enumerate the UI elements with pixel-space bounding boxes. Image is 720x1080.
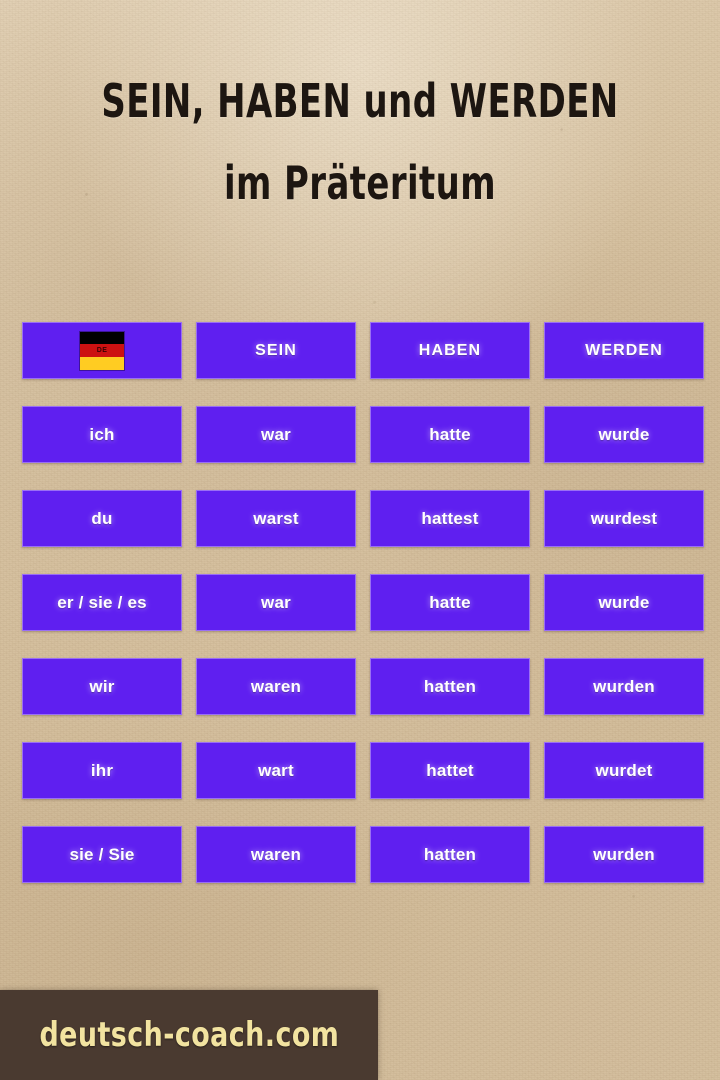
table-cell-werden: wurde <box>544 574 704 631</box>
verb-form: waren <box>251 845 301 865</box>
verb-form: hatte <box>429 593 471 613</box>
verb-form: wurdet <box>596 761 653 781</box>
table-row: ihr <box>22 742 182 799</box>
table-cell-werden: wurdet <box>544 742 704 799</box>
pronoun-label: ich <box>89 425 114 445</box>
table-cell-haben: hatte <box>370 574 530 631</box>
verb-form: wart <box>258 761 294 781</box>
verb-form: hatte <box>429 425 471 445</box>
verb-form: hatten <box>424 677 476 697</box>
title-line-2: im Präteritum <box>65 160 655 206</box>
footer-watermark-bar: deutsch-coach.com <box>0 990 378 1080</box>
table-cell-werden: wurde <box>544 406 704 463</box>
poster-page: SEIN, HABEN und WERDEN im Präteritum DE … <box>0 0 720 1080</box>
verb-form: warst <box>253 509 298 529</box>
table-cell-werden: wurdest <box>544 490 704 547</box>
table-row: er / sie / es <box>22 574 182 631</box>
flag-band-black <box>80 332 124 345</box>
table-cell-sein: waren <box>196 826 356 883</box>
table-header-sein-label: SEIN <box>255 342 297 360</box>
table-header-flag-cell: DE <box>22 322 182 379</box>
table-cell-werden: wurden <box>544 826 704 883</box>
verb-form: wurde <box>598 425 649 445</box>
table-cell-haben: hatten <box>370 658 530 715</box>
verb-form: wurdest <box>591 509 658 529</box>
table-header-werden-label: WERDEN <box>585 342 663 360</box>
table-cell-sein: waren <box>196 658 356 715</box>
table-cell-haben: hattest <box>370 490 530 547</box>
footer-watermark-label: deutsch-coach.com <box>39 1015 339 1055</box>
verb-form: hatten <box>424 845 476 865</box>
german-flag-icon: DE <box>80 332 124 370</box>
table-row: sie / Sie <box>22 826 182 883</box>
flag-de-label: DE <box>80 344 124 357</box>
pronoun-label: sie / Sie <box>69 845 134 865</box>
page-title: SEIN, HABEN und WERDEN im Präteritum <box>0 78 720 206</box>
table-header-haben-label: HABEN <box>419 342 481 360</box>
verb-form: war <box>261 425 291 445</box>
table-cell-werden: wurden <box>544 658 704 715</box>
verb-form: wurde <box>598 593 649 613</box>
pronoun-label: wir <box>89 677 114 697</box>
pronoun-label: du <box>91 509 112 529</box>
verb-form: waren <box>251 677 301 697</box>
table-header-sein: SEIN <box>196 322 356 379</box>
table-cell-sein: war <box>196 406 356 463</box>
table-cell-haben: hatte <box>370 406 530 463</box>
verb-form: hattest <box>421 509 478 529</box>
verb-form: wurden <box>593 845 655 865</box>
flag-band-gold <box>80 357 124 370</box>
table-row: ich <box>22 406 182 463</box>
table-row: du <box>22 490 182 547</box>
pronoun-label: er / sie / es <box>57 593 147 613</box>
verb-form: wurden <box>593 677 655 697</box>
table-row: wir <box>22 658 182 715</box>
conjugation-table: DE SEIN HABEN WERDEN ich war hatte wurde… <box>22 322 704 883</box>
table-cell-sein: wart <box>196 742 356 799</box>
table-cell-haben: hatten <box>370 826 530 883</box>
table-cell-sein: war <box>196 574 356 631</box>
flag-band-red: DE <box>80 344 124 357</box>
table-header-werden: WERDEN <box>544 322 704 379</box>
table-header-haben: HABEN <box>370 322 530 379</box>
title-line-1: SEIN, HABEN und WERDEN <box>65 78 655 124</box>
table-cell-haben: hattet <box>370 742 530 799</box>
table-cell-sein: warst <box>196 490 356 547</box>
pronoun-label: ihr <box>91 761 113 781</box>
verb-form: war <box>261 593 291 613</box>
verb-form: hattet <box>426 761 473 781</box>
